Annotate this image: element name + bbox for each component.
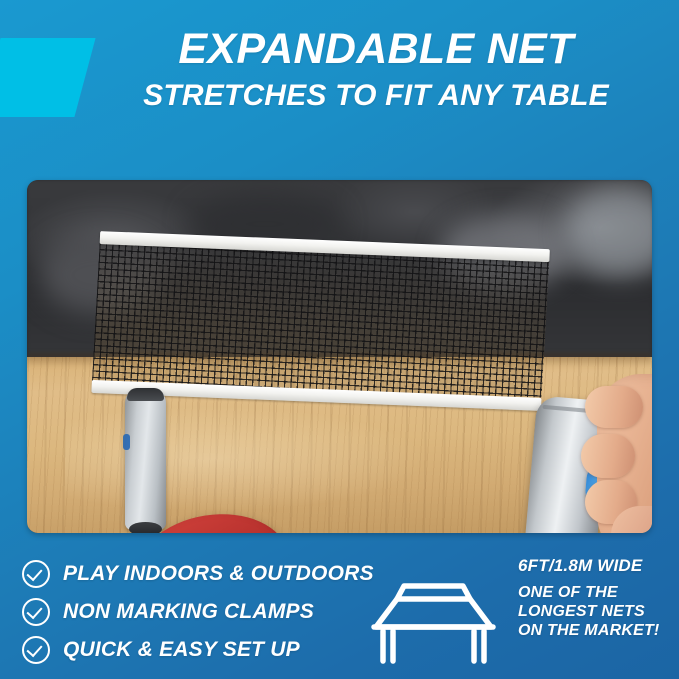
check-circle-icon (22, 598, 50, 626)
ping-pong-table-icon (366, 561, 501, 666)
feature-label: PLAY INDOORS & OUTDOORS (63, 562, 374, 586)
photo-stage: PRO·SPIN PRO·SPIN PRO-SPIN (27, 180, 652, 533)
width-description: ONE OF THE LONGEST NETS ON THE MARKET! (518, 583, 678, 640)
feature-label: QUICK & EASY SET UP (63, 638, 300, 662)
header-banner: EXPANDABLE NET STRETCHES TO FIT ANY TABL… (0, 0, 679, 150)
width-description-line-3: ON THE MARKET! (518, 621, 678, 640)
finger (581, 434, 635, 478)
product-poster: EXPANDABLE NET STRETCHES TO FIT ANY TABL… (0, 0, 679, 679)
cyan-accent-shape (0, 38, 96, 117)
feature-label: NON MARKING CLAMPS (63, 600, 314, 624)
net-clamp-left (125, 388, 166, 530)
feature-item-non-marking-clamps: NON MARKING CLAMPS (22, 595, 352, 629)
width-description-line-2: LONGEST NETS (518, 602, 678, 621)
width-description-line-1: ONE OF THE (518, 583, 678, 602)
finger (585, 386, 643, 428)
feature-item-play-indoors-outdoors: PLAY INDOORS & OUTDOORS (22, 557, 352, 591)
width-headline: 6FT/1.8M WIDE (518, 556, 678, 576)
check-circle-icon (22, 636, 50, 664)
width-callout: 6FT/1.8M WIDE ONE OF THE LONGEST NETS ON… (518, 556, 678, 640)
check-circle-icon (22, 560, 50, 588)
feature-item-quick-easy-set-up: QUICK & EASY SET UP (22, 633, 352, 667)
hand-holding-clamp (583, 356, 652, 533)
clamp-cap (127, 388, 164, 401)
page-title: EXPANDABLE NET (86, 24, 666, 74)
page-subtitle: STRETCHES TO FIT ANY TABLE (86, 78, 666, 114)
product-photo: PRO·SPIN PRO·SPIN PRO-SPIN (27, 180, 652, 533)
clamp-blue-detail (123, 434, 130, 450)
feature-list: PLAY INDOORS & OUTDOORS NON MARKING CLAM… (22, 557, 352, 671)
title-block: EXPANDABLE NET STRETCHES TO FIT ANY TABL… (86, 24, 666, 114)
